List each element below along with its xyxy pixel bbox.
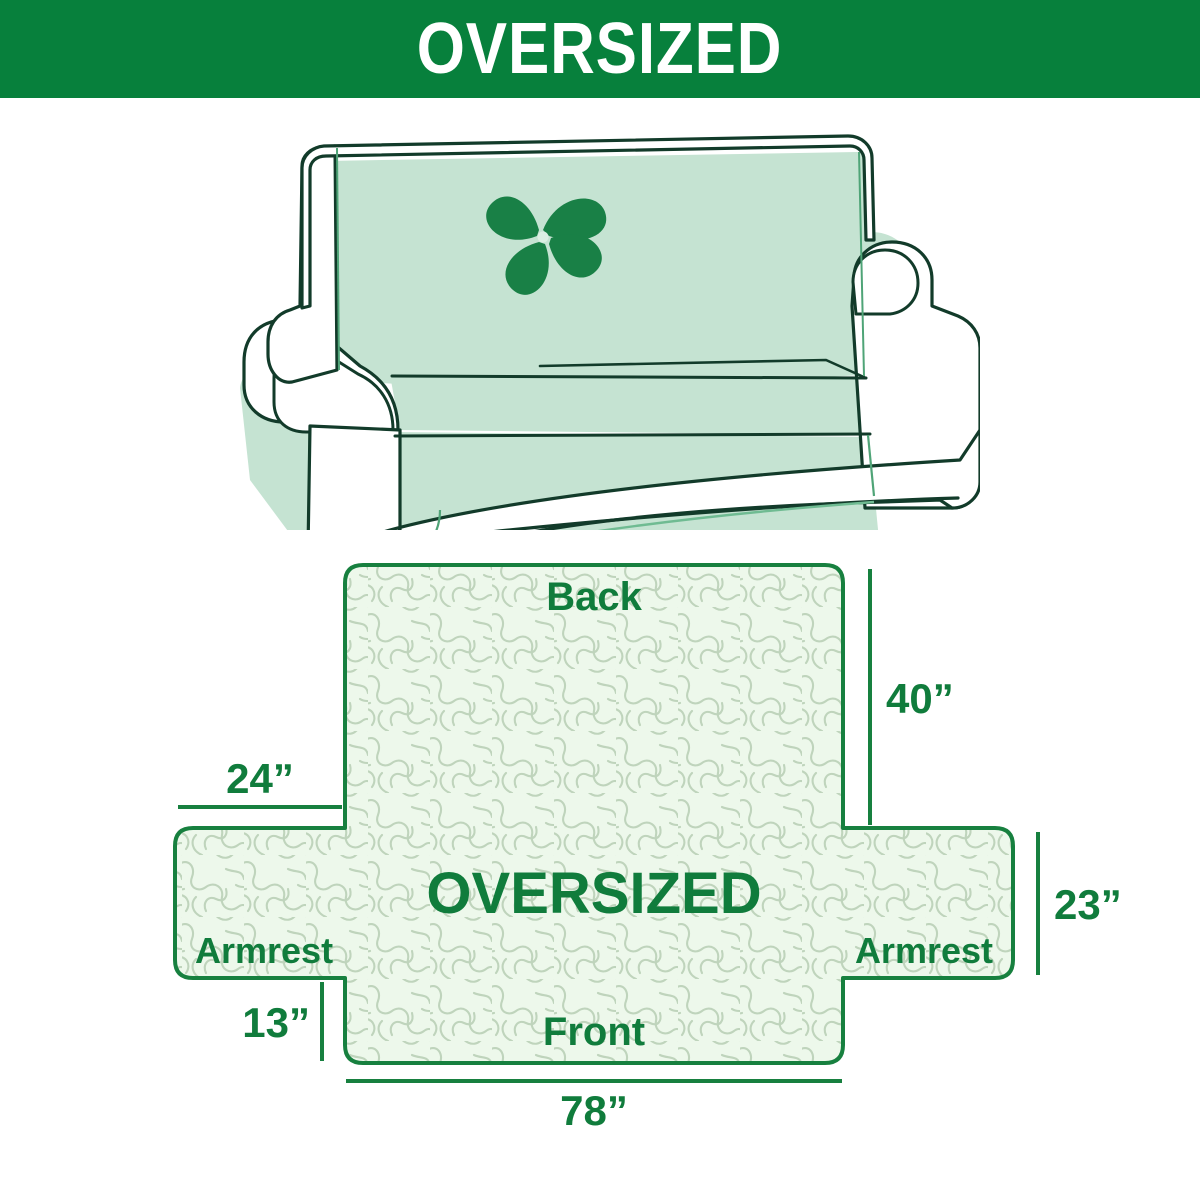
panel-label-armrest-right: Armrest (855, 930, 993, 971)
header-banner: OVERSIZED (0, 0, 1200, 98)
panel-label-front: Front (543, 1010, 645, 1054)
product-size-chart-page: OVERSIZED (0, 0, 1200, 1200)
sofa-illustration (240, 130, 980, 530)
slipcover-seat-panel (390, 375, 868, 435)
panel-label-armrest-left: Armrest (195, 930, 333, 971)
page-title: OVERSIZED (417, 13, 783, 85)
sofa-seat-top-line (392, 376, 866, 378)
sofa-seat-front-line (395, 434, 870, 436)
dimension-label-back-height: 40” (886, 675, 954, 722)
flatlay-diagram: Back Front Armrest Armrest OVERSIZED 40”… (120, 545, 1120, 1145)
slipcover-flatlay-shape (175, 565, 1013, 1063)
dimension-label-armrest-depth: 24” (226, 755, 294, 802)
dimension-label-armrest-height: 23” (1054, 881, 1120, 928)
panel-label-back: Back (546, 575, 642, 619)
dimension-label-total-width: 78” (560, 1087, 628, 1134)
flatlay-center-label: OVERSIZED (426, 861, 761, 926)
dimension-label-front-height: 13” (242, 999, 310, 1046)
